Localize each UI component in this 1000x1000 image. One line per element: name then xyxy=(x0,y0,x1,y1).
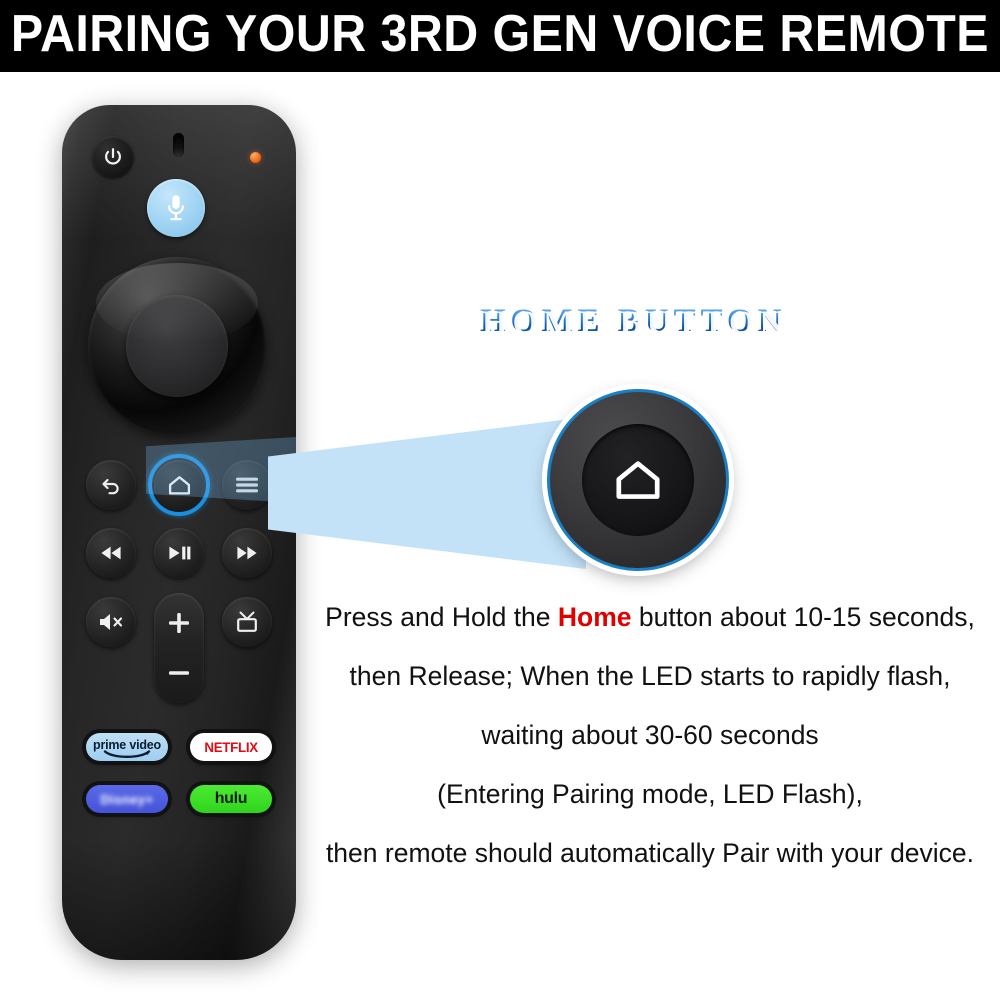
disney-plus-label: Disney+ xyxy=(100,792,153,807)
fast-forward-button[interactable] xyxy=(222,528,272,578)
mute-button[interactable] xyxy=(86,597,136,647)
remote-bottom-shade xyxy=(62,840,296,960)
instruction-line-5: then remote should automatically Pair wi… xyxy=(300,824,1000,883)
rewind-button[interactable] xyxy=(86,528,136,578)
voice-button[interactable] xyxy=(147,179,205,237)
back-arrow-icon xyxy=(99,473,123,497)
hulu-button[interactable]: hulu xyxy=(190,785,272,813)
power-icon xyxy=(102,146,124,168)
disney-plus-button[interactable]: Disney+ xyxy=(86,785,168,813)
header-bar: PAIRING YOUR 3RD GEN VOICE REMOTE xyxy=(0,0,1000,72)
tv-antenna-icon xyxy=(234,609,260,635)
page-root: PAIRING YOUR 3RD GEN VOICE REMOTE xyxy=(0,0,1000,1000)
play-pause-icon xyxy=(166,545,192,561)
back-button[interactable] xyxy=(86,460,136,510)
speaker-mute-icon xyxy=(97,611,125,633)
instruction-line-1-part-b: button about 10-15 seconds, xyxy=(632,602,975,632)
netflix-label: NETFLIX xyxy=(204,739,257,755)
remote-body: prime video NETFLIX Disney+ hulu xyxy=(62,105,296,960)
instructions-block: Press and Hold the Home button about 10-… xyxy=(300,588,1000,883)
home-button-highlight-ring xyxy=(148,454,210,516)
instruction-line-1: Press and Hold the Home button about 10-… xyxy=(300,588,1000,647)
instruction-line-4: (Entering Pairing mode, LED Flash), xyxy=(300,765,1000,824)
magnifier-cone xyxy=(268,417,586,569)
select-button[interactable] xyxy=(126,295,228,397)
volume-rocker[interactable] xyxy=(154,593,204,703)
magnified-home-button xyxy=(547,389,729,571)
instruction-home-highlight: Home xyxy=(558,602,632,632)
netflix-button[interactable]: NETFLIX xyxy=(190,733,272,761)
live-tv-button[interactable] xyxy=(222,597,272,647)
power-button[interactable] xyxy=(92,136,134,178)
microphone-icon xyxy=(163,193,189,223)
instruction-line-1-part-a: Press and Hold the xyxy=(325,602,558,632)
home-icon xyxy=(612,457,664,504)
amazon-smile-icon xyxy=(103,750,151,759)
navigation-ring[interactable] xyxy=(88,257,266,435)
menu-button[interactable] xyxy=(222,460,272,510)
callout-title: HOME BUTTON xyxy=(480,303,800,340)
play-pause-button[interactable] xyxy=(154,528,204,578)
plus-icon[interactable] xyxy=(167,611,191,635)
page-title: PAIRING YOUR 3RD GEN VOICE REMOTE xyxy=(11,8,989,64)
instruction-line-3: waiting about 30-60 seconds xyxy=(300,706,1000,765)
led-indicator xyxy=(250,152,261,163)
fast-forward-icon xyxy=(234,545,260,561)
instruction-line-2: then Release; When the LED starts to rap… xyxy=(300,647,1000,706)
prime-video-button[interactable]: prime video xyxy=(86,733,168,761)
minus-icon[interactable] xyxy=(167,669,191,677)
hulu-label: hulu xyxy=(215,790,248,808)
rewind-icon xyxy=(98,545,124,561)
hamburger-menu-icon xyxy=(234,476,260,494)
mic-hole-icon xyxy=(173,133,184,157)
magnified-home-inner xyxy=(582,424,694,536)
